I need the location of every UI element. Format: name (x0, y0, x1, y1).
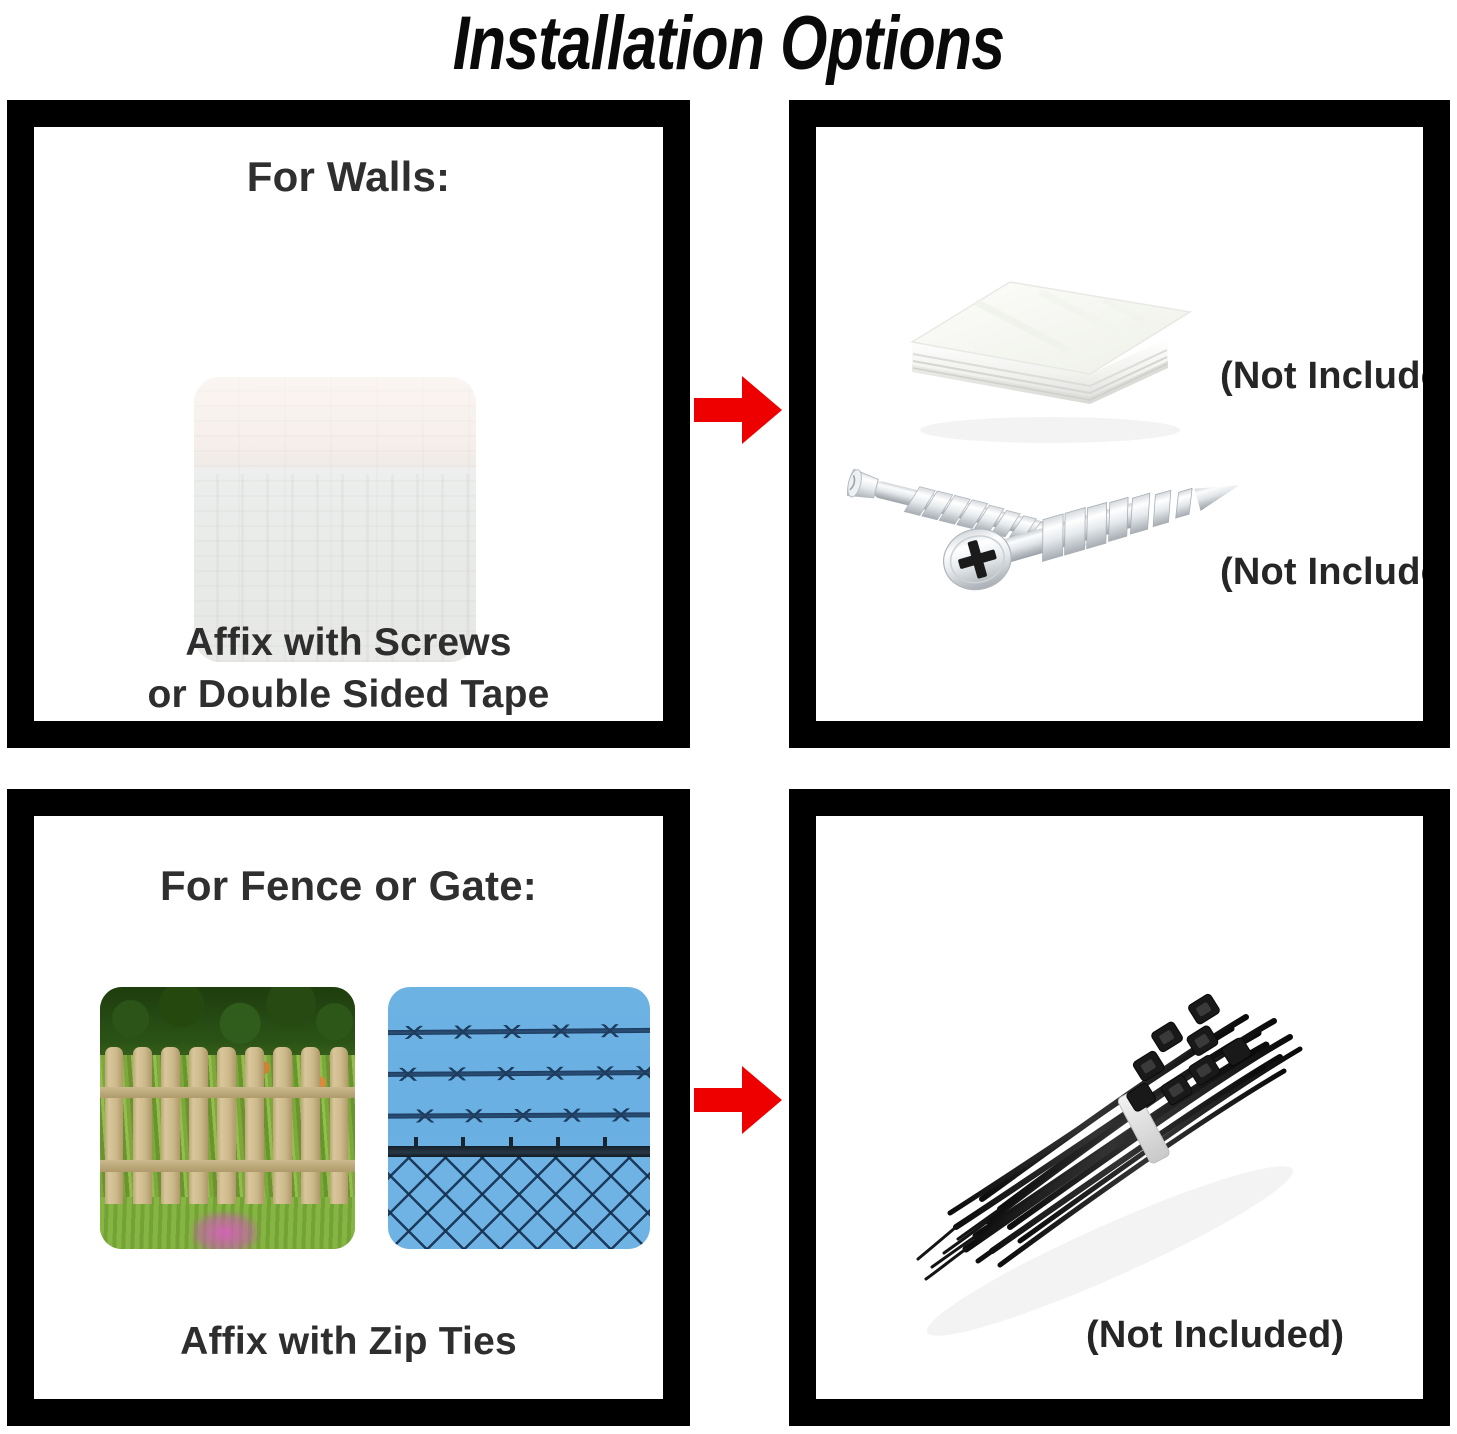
right-arrow-icon-bottom (692, 1062, 784, 1138)
zip-ties-not-included-label: (Not Included) (1086, 1314, 1344, 1357)
wooden-picket-fence-photo (100, 987, 355, 1249)
installation-options-infographic: Installation Options For Walls: Affix wi… (0, 0, 1457, 1434)
page-title: Installation Options (146, 0, 1312, 92)
for-fence-or-gate-heading: For Fence or Gate: (34, 862, 663, 910)
panel-wall-hardware: (Not Included) (789, 100, 1450, 748)
walls-caption-line2: or Double Sided Tape (34, 669, 663, 721)
walls-caption: Affix with Screws or Double Sided Tape (34, 617, 663, 721)
for-walls-heading: For Walls: (34, 153, 663, 201)
panel-zip-ties: (Not Included) (789, 789, 1450, 1426)
panel-for-walls: For Walls: Affix with Screws or Double S… (7, 100, 690, 748)
double-sided-tape-stack-image (890, 262, 1200, 447)
fence-caption: Affix with Zip Ties (34, 1316, 663, 1368)
tape-not-included-label: (Not Included) (1220, 355, 1450, 398)
panel-for-fence-or-gate: For Fence or Gate: (7, 789, 690, 1426)
walls-caption-line1: Affix with Screws (185, 621, 511, 664)
chain-link-barbed-wire-photo (388, 987, 650, 1249)
screws-not-included-label: (Not Included) (1220, 551, 1450, 594)
wood-screws-image (836, 447, 1256, 662)
black-zip-ties-image (860, 921, 1380, 1351)
right-arrow-icon-top (692, 372, 784, 448)
